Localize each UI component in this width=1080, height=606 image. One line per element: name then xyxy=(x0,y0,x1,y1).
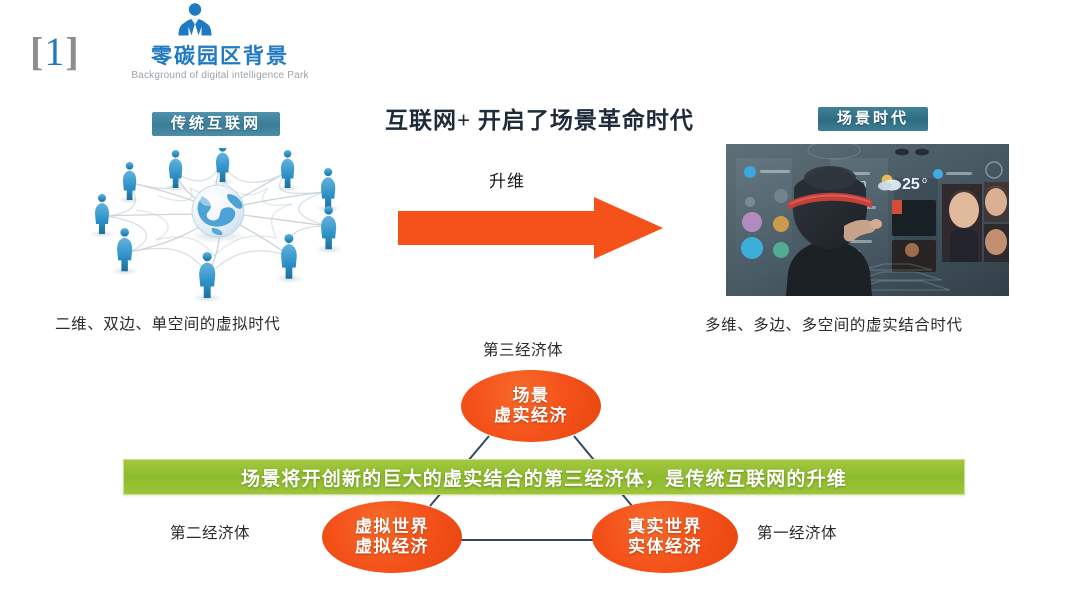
green-banner-text: 场景将开创新的巨大的虚实结合的第三经济体，是传统互联网的升维 xyxy=(241,464,847,491)
page-subtitle: Background of digital intelligence Park xyxy=(100,70,340,81)
bubble-line-1: 场景 xyxy=(513,386,550,406)
bubble-line-1: 真实世界 xyxy=(628,517,702,537)
label-second-economy: 第二经济体 xyxy=(170,521,250,543)
label-third-economy: 第三经济体 xyxy=(483,338,563,360)
bubble-line-2: 虚实经济 xyxy=(494,406,568,426)
bracket-open: [ xyxy=(30,29,44,74)
page-title: 零碳园区背景 xyxy=(110,40,330,70)
bubble-line-1: 虚拟世界 xyxy=(355,517,429,537)
caption-right: 多维、多边、多空间的虚实结合时代 xyxy=(705,313,963,335)
bracket-close: ] xyxy=(65,29,79,74)
caption-left: 二维、双边、单空间的虚拟时代 xyxy=(55,312,280,334)
slide-canvas: [1] 零碳园区背景 Background of digital intelli… xyxy=(0,0,1080,606)
bubble-scene-economy: 场景 虚实经济 xyxy=(461,370,601,442)
ar-smart-mirror-photo: 30pm 25 o xyxy=(726,144,1009,296)
section-number-digit: 1 xyxy=(44,29,65,74)
bubble-virtual-economy: 虚拟世界 虚拟经济 xyxy=(322,501,462,573)
arrow-label: 升维 xyxy=(489,167,525,192)
businessperson-icon xyxy=(170,2,220,38)
green-banner: 场景将开创新的巨大的虚实结合的第三经济体，是传统互联网的升维 xyxy=(123,459,965,495)
bubble-line-2: 实体经济 xyxy=(628,537,702,557)
upgrade-arrow-icon xyxy=(398,197,663,259)
label-scene-era: 场景时代 xyxy=(818,107,928,131)
label-traditional-internet: 传统互联网 xyxy=(152,112,280,136)
network-globe-illustration xyxy=(62,148,380,306)
label-first-economy: 第一经济体 xyxy=(757,521,837,543)
bubble-line-2: 虚拟经济 xyxy=(355,537,429,557)
section-number: [1] xyxy=(30,32,80,72)
bubble-real-economy: 真实世界 实体经济 xyxy=(592,501,738,573)
main-heading: 互联网+ 开启了场景革命时代 xyxy=(385,101,694,135)
